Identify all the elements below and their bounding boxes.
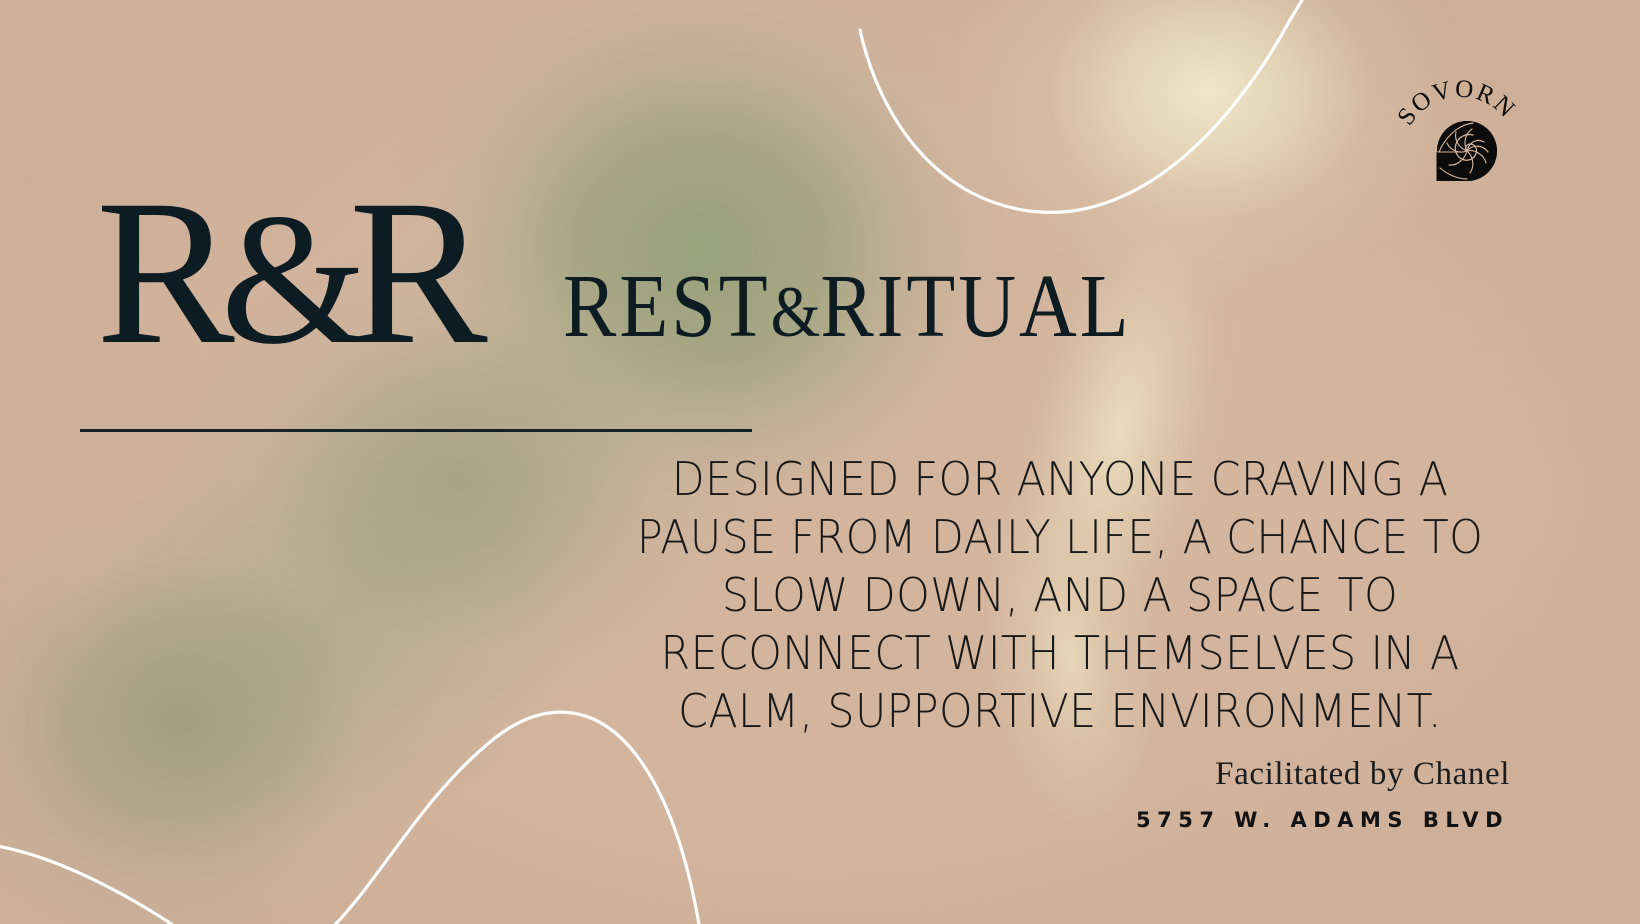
- ammonite-shell-icon: [1437, 121, 1497, 181]
- monogram-letter-left: R: [96, 157, 221, 387]
- decorative-curve-bottom-left-a: [0, 845, 215, 924]
- venue-address: 5757 W. ADAMS BLVD: [1136, 808, 1509, 832]
- sovorn-arc-text: SOVORN: [1395, 78, 1521, 130]
- horizontal-divider: [80, 429, 752, 432]
- poster-canvas: SOVORN R&: [0, 0, 1640, 924]
- monogram-letter-right: R: [349, 157, 474, 387]
- brand-wordmark: REST&RITUAL: [563, 262, 1132, 352]
- brand-monogram: R&R: [96, 168, 474, 376]
- decorative-curve-bottom-left-b: [330, 712, 700, 924]
- sovorn-logo-mark[interactable]: SOVORN: [1395, 78, 1525, 188]
- wordmark-ampersand: &: [771, 272, 821, 352]
- body-copy-line: SLOW DOWN, AND A SPACE TO: [632, 566, 1488, 624]
- decorative-curve-top-right: [860, 0, 1360, 212]
- body-copy-line: CALM, SUPPORTIVE ENVIRONMENT.: [632, 682, 1488, 740]
- body-copy: DESIGNED FOR ANYONE CRAVING A PAUSE FROM…: [632, 450, 1488, 740]
- body-copy-line: RECONNECT WITH THEMSELVES IN A: [632, 624, 1488, 682]
- body-copy-line: PAUSE FROM DAILY LIFE, A CHANCE TO: [632, 508, 1488, 566]
- wordmark-ritual: RITUAL: [820, 258, 1131, 357]
- wordmark-rest: REST: [563, 258, 771, 357]
- facilitator-credit: Facilitated by Chanel: [1215, 756, 1510, 793]
- sovorn-arc-textpath: SOVORN: [1395, 78, 1521, 130]
- monogram-ampersand: &: [221, 174, 349, 383]
- body-copy-line: DESIGNED FOR ANYONE CRAVING A: [632, 450, 1488, 508]
